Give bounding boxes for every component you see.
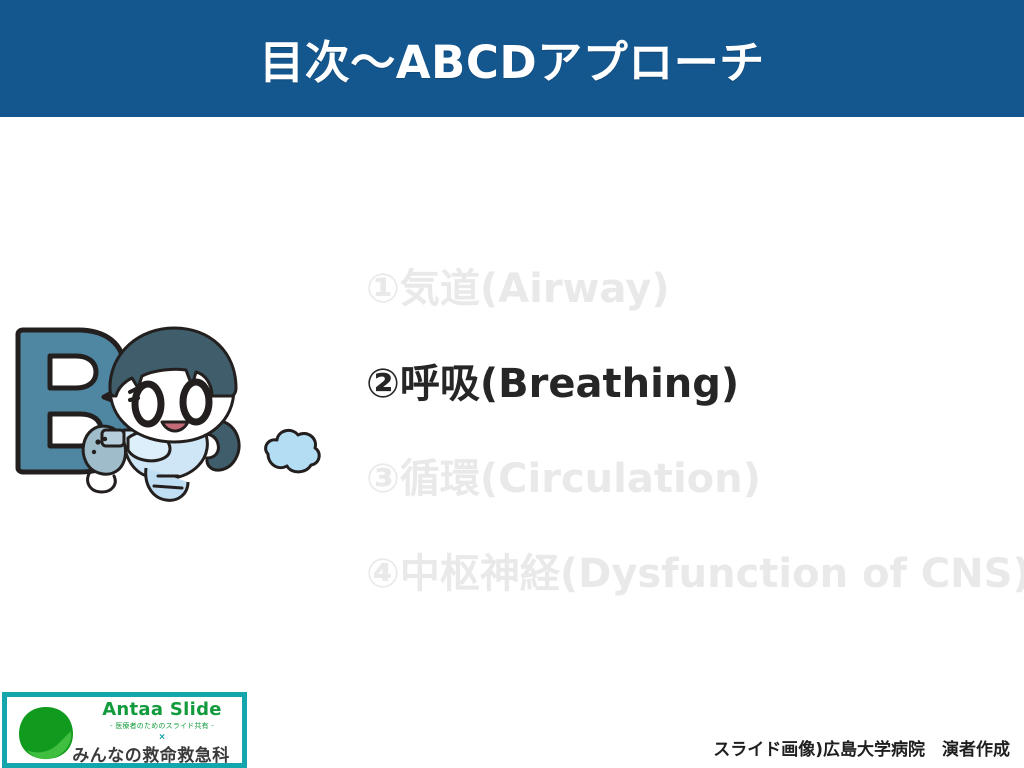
image-credit: スライド画像)広島大学病院 演者作成 bbox=[713, 735, 1010, 760]
abcd-item-airway[interactable]: ①気道(Airway) bbox=[366, 258, 1016, 353]
abcd-illustration bbox=[6, 326, 346, 541]
logo-text-block: Antaa Slide - 医療者のためのスライド共有 - × bbox=[79, 699, 245, 744]
page-title: 目次〜ABCDアプローチ bbox=[0, 0, 1024, 117]
brand-name: Antaa Slide bbox=[79, 699, 245, 721]
slide-canvas: 目次〜ABCDアプローチ bbox=[0, 0, 1024, 768]
antaa-slide-logo: Antaa Slide - 医療者のためのスライド共有 - × みんなの救命救急… bbox=[2, 692, 247, 768]
abcd-item-dysfunction-cns[interactable]: ④中枢神経(Dysfunction of CNS) bbox=[366, 543, 1016, 638]
partner-name: みんなの救命救急科 bbox=[57, 741, 245, 766]
abcd-item-circulation[interactable]: ③循環(Circulation) bbox=[366, 448, 1016, 543]
brand-subtitle: - 医療者のためのスライド共有 - bbox=[79, 721, 245, 732]
abcd-approach-list: ①気道(Airway) ②呼吸(Breathing) ③循環(Circulati… bbox=[366, 258, 1016, 638]
abcd-item-breathing[interactable]: ②呼吸(Breathing) bbox=[366, 353, 1016, 448]
